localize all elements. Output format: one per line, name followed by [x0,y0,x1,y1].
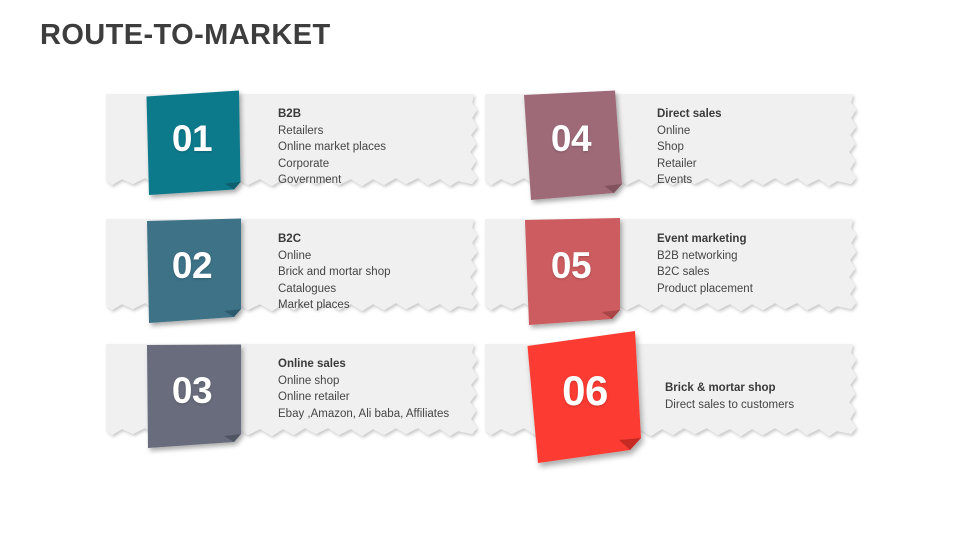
card-line: Catalogues [278,281,474,297]
card-03[interactable]: 03 Online sales Online shop Online retai… [106,344,481,442]
card-line: Brick and mortar shop [278,264,474,280]
card-06[interactable]: 06 Brick & mortar shop Direct sales to c… [485,344,860,442]
card-title: Direct sales [657,106,853,122]
card-title: B2B [278,106,474,122]
card-line: Online retailer [278,389,488,405]
card-line: Retailer [657,156,853,172]
card-line: Retailers [278,123,474,139]
card-title: Event marketing [657,231,853,247]
card-line: Events [657,172,853,188]
card-text-block: B2B Retailers Online market places Corpo… [278,106,474,188]
card-line: Market places [278,297,474,313]
card-line: Direct sales to customers [665,397,875,413]
card-line: Government [278,172,474,188]
card-line: B2C sales [657,264,853,280]
card-line: Online market places [278,139,474,155]
card-line: Online shop [278,373,488,389]
card-text-block: Online sales Online shop Online retailer… [278,356,488,422]
card-05[interactable]: 05 Event marketing B2B networking B2C sa… [485,219,860,317]
card-line: Shop [657,139,853,155]
card-text-block: B2C Online Brick and mortar shop Catalog… [278,231,474,313]
card-line: Product placement [657,281,853,297]
card-number: 01 [144,90,240,188]
slide-canvas: ROUTE-TO-MARKET [0,0,960,540]
card-number: 03 [144,342,240,440]
card-number: 04 [523,90,619,188]
number-tile-03[interactable]: 03 [144,342,240,448]
card-title: B2C [278,231,474,247]
card-number: 05 [523,217,619,315]
card-line: B2B networking [657,248,853,264]
number-tile-06[interactable]: 06 [527,330,643,458]
card-number: 06 [527,330,643,452]
card-text-block: Direct sales Online Shop Retailer Events [657,106,853,188]
number-tile-01[interactable]: 01 [144,90,240,196]
card-01[interactable]: 01 B2B Retailers Online market places Co… [106,94,481,192]
card-title: Brick & mortar shop [665,380,875,396]
card-04[interactable]: 04 Direct sales Online Shop Retailer Eve… [485,94,860,192]
card-title: Online sales [278,356,488,372]
card-line: Ebay ,Amazon, Ali baba, Affiliates [278,406,488,422]
number-tile-05[interactable]: 05 [523,217,619,323]
number-tile-04[interactable]: 04 [523,90,619,196]
card-02[interactable]: 02 B2C Online Brick and mortar shop Cata… [106,219,481,317]
card-line: Online [278,248,474,264]
card-line: Online [657,123,853,139]
card-number: 02 [144,217,240,315]
page-title: ROUTE-TO-MARKET [40,19,331,52]
card-line: Corporate [278,156,474,172]
card-text-block: Event marketing B2B networking B2C sales… [657,231,853,297]
card-text-block: Brick & mortar shop Direct sales to cust… [665,380,875,413]
number-tile-02[interactable]: 02 [144,217,240,323]
